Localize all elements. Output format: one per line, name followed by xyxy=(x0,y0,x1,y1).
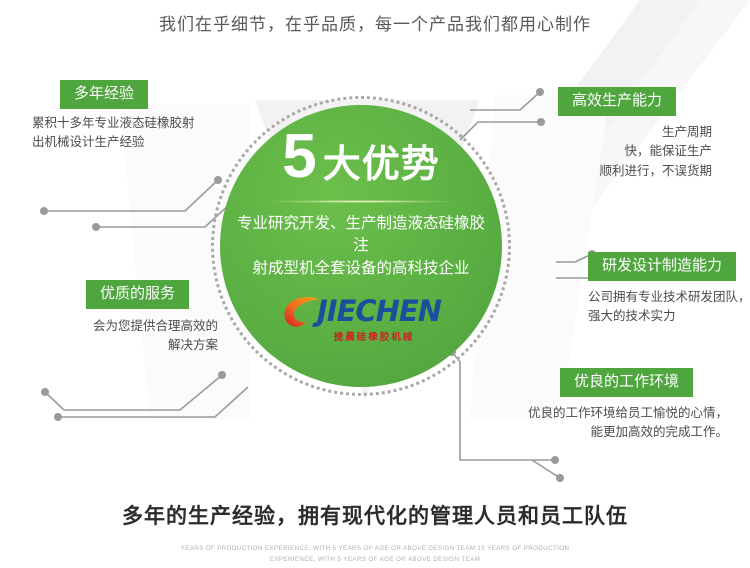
feature-desc-work-environment: 优良的工作环境给员工愉悦的心情， 能更加高效的完成工作。 xyxy=(528,404,728,443)
advantage-count-row: 5 大优势 xyxy=(282,126,440,188)
circle-description: 专业研究开发、生产制造液态硅橡胶注 射成型机全套设备的高科技企业 xyxy=(230,213,492,280)
footer-english-line1: YEARS OF PRODUCTION EXPERIENCE, WITH 5 Y… xyxy=(0,544,750,555)
feature-desc-production-capacity-line1: 生产周期 xyxy=(599,123,712,142)
feature-desc-experience: 累积十多年专业液态硅橡胶射 出机械设计生产经验 xyxy=(32,114,195,153)
footer-headline: 多年的生产经验，拥有现代化的管理人员和员工队伍 xyxy=(0,500,750,530)
footer-english-line2: EXPERIENCE, WITH 5 YEARS OF AGE OR ABOVE… xyxy=(0,555,750,566)
page-tagline: 我们在乎细节，在乎品质，每一个产品我们都用心制作 xyxy=(0,10,750,35)
logo-subtitle: 捷晨硅橡胶机械 xyxy=(334,329,415,343)
feature-desc-production-capacity-line3: 顺利进行，不误货期 xyxy=(599,162,712,181)
feature-desc-service-line2: 解决方案 xyxy=(28,336,218,355)
footer-english: YEARS OF PRODUCTION EXPERIENCE, WITH 5 Y… xyxy=(0,544,750,566)
feature-desc-service-line1: 会为您提供合理高效的 xyxy=(28,317,218,336)
feature-chip-experience[interactable]: 多年经验 xyxy=(60,80,148,109)
company-logo: JIECHEN 捷晨硅橡胶机械 xyxy=(281,294,441,343)
feature-desc-rd-design-line1: 公司拥有专业技术研发团队， xyxy=(588,288,750,307)
feature-desc-production-capacity-line2: 快，能保证生产 xyxy=(599,142,712,161)
logo-wordmark: JIECHEN xyxy=(317,294,441,328)
feature-chip-work-environment[interactable]: 优良的工作环境 xyxy=(560,368,693,397)
infographic-canvas: 我们在乎细节，在乎品质，每一个产品我们都用心制作 5 大优势 专业研究开发、生产… xyxy=(0,0,750,568)
feature-desc-rd-design: 公司拥有专业技术研发团队， 强大的技术实力 xyxy=(588,288,750,327)
feature-desc-production-capacity: 生产周期 快，能保证生产 顺利进行，不误货期 xyxy=(599,123,712,181)
feature-desc-work-environment-line2: 能更加高效的完成工作。 xyxy=(528,423,728,442)
feature-desc-rd-design-line2: 强大的技术实力 xyxy=(588,307,750,326)
feature-desc-service: 会为您提供合理高效的 解决方案 xyxy=(28,317,218,356)
glow-divider xyxy=(266,200,456,203)
feature-chip-rd-design[interactable]: 研发设计制造能力 xyxy=(588,252,736,281)
advantage-number-label: 大优势 xyxy=(323,146,440,184)
circle-description-line1: 专业研究开发、生产制造液态硅橡胶注 xyxy=(230,213,492,258)
feature-desc-work-environment-line1: 优良的工作环境给员工愉悦的心情， xyxy=(528,404,728,423)
circle-description-line2: 射成型机全套设备的高科技企业 xyxy=(230,258,492,280)
feature-chip-service[interactable]: 优质的服务 xyxy=(86,280,189,309)
advantage-number: 5 xyxy=(282,126,314,188)
feature-chip-production-capacity[interactable]: 高效生产能力 xyxy=(558,87,676,116)
feature-desc-experience-line2: 出机械设计生产经验 xyxy=(32,133,195,152)
feature-desc-experience-line1: 累积十多年专业液态硅橡胶射 xyxy=(32,114,195,133)
central-circle: 5 大优势 专业研究开发、生产制造液态硅橡胶注 射成型机全套设备的高科技企业 xyxy=(211,96,511,396)
